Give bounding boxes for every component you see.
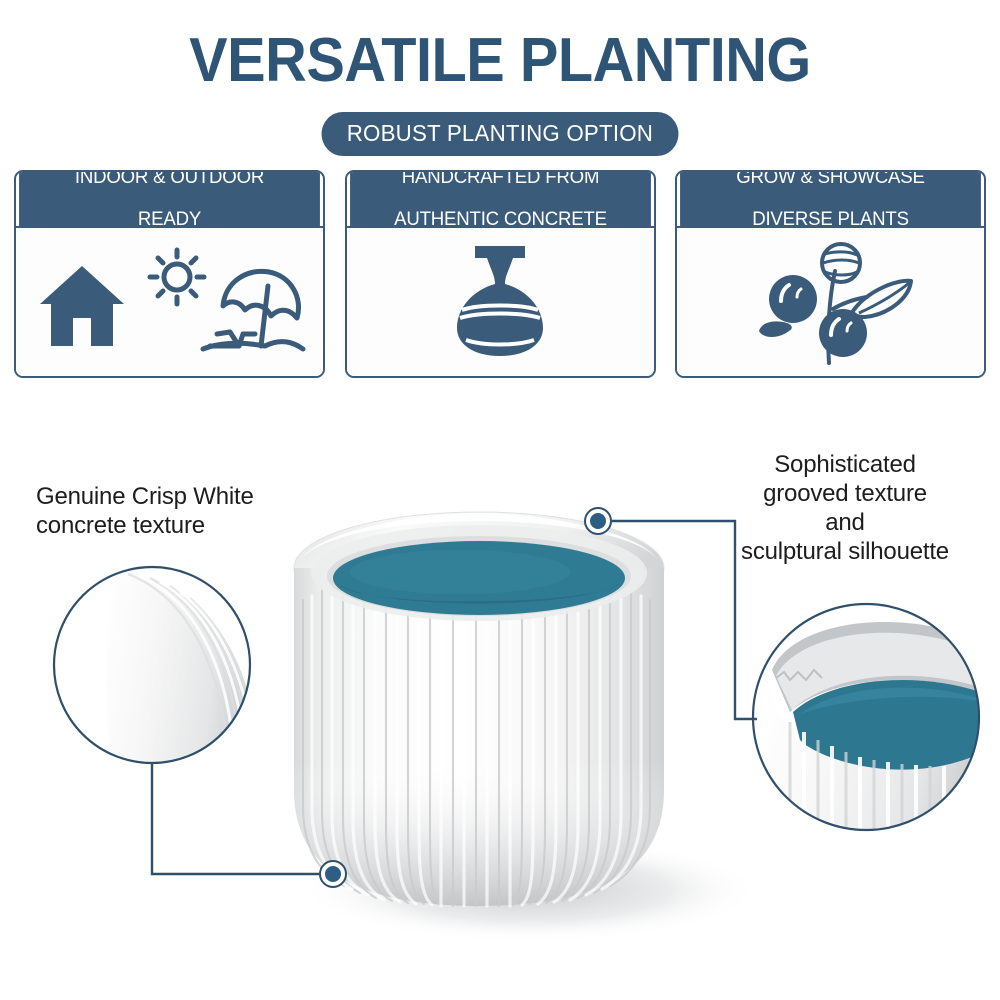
card-title-line2: AUTHENTIC CONCRETE	[355, 209, 644, 230]
indoor-outdoor-icon-group	[25, 242, 315, 362]
card-title-line1: HANDCRAFTED FROM	[355, 170, 644, 188]
feature-card-indoor-outdoor: INDOOR & OUTDOOR READY	[14, 170, 325, 378]
feature-card-diverse-plants: GROW & SHOWCASE DIVERSE PLANTS	[675, 170, 986, 378]
house-icon	[40, 266, 124, 346]
striped-berry	[822, 244, 860, 282]
product-showcase: Genuine Crisp White concrete texture Sop…	[0, 400, 1000, 1000]
card-title-line1: INDOOR & OUTDOOR	[25, 170, 314, 188]
feature-card-body	[677, 226, 984, 376]
beach-umbrella-icon	[203, 271, 303, 349]
leaf-left	[759, 321, 792, 337]
vase-icon	[435, 240, 565, 364]
feature-card-row: INDOOR & OUTDOOR READY	[14, 170, 986, 378]
feature-card-header: HANDCRAFTED FROM AUTHENTIC CONCRETE	[350, 172, 651, 226]
card-title-line2: DIVERSE PLANTS	[686, 209, 975, 230]
header: VERSATILE PLANTING ROBUST PLANTING OPTIO…	[0, 0, 1000, 160]
card-title-line2: READY	[25, 209, 314, 230]
callout-left-label: Genuine Crisp White concrete texture	[36, 482, 336, 540]
feature-card-header: GROW & SHOWCASE DIVERSE PLANTS	[680, 172, 981, 226]
callout-right-label: Sophisticated grooved texture and sculpt…	[700, 450, 990, 566]
card-title-line1: GROW & SHOWCASE	[686, 170, 975, 188]
feature-card-authentic-concrete: HANDCRAFTED FROM AUTHENTIC CONCRETE	[345, 170, 656, 378]
feature-card-body	[347, 226, 654, 376]
left-berry	[769, 275, 817, 323]
feature-card-body	[16, 226, 323, 376]
feature-card-header: INDOOR & OUTDOOR READY	[19, 172, 320, 226]
badge-container: ROBUST PLANTING OPTION	[0, 112, 1000, 156]
subtitle-badge: ROBUST PLANTING OPTION	[322, 112, 679, 156]
sun-icon	[150, 250, 204, 304]
leaf-right	[852, 281, 910, 317]
berry-branch-icon	[731, 237, 931, 367]
page-title: VERSATILE PLANTING	[35, 28, 965, 94]
